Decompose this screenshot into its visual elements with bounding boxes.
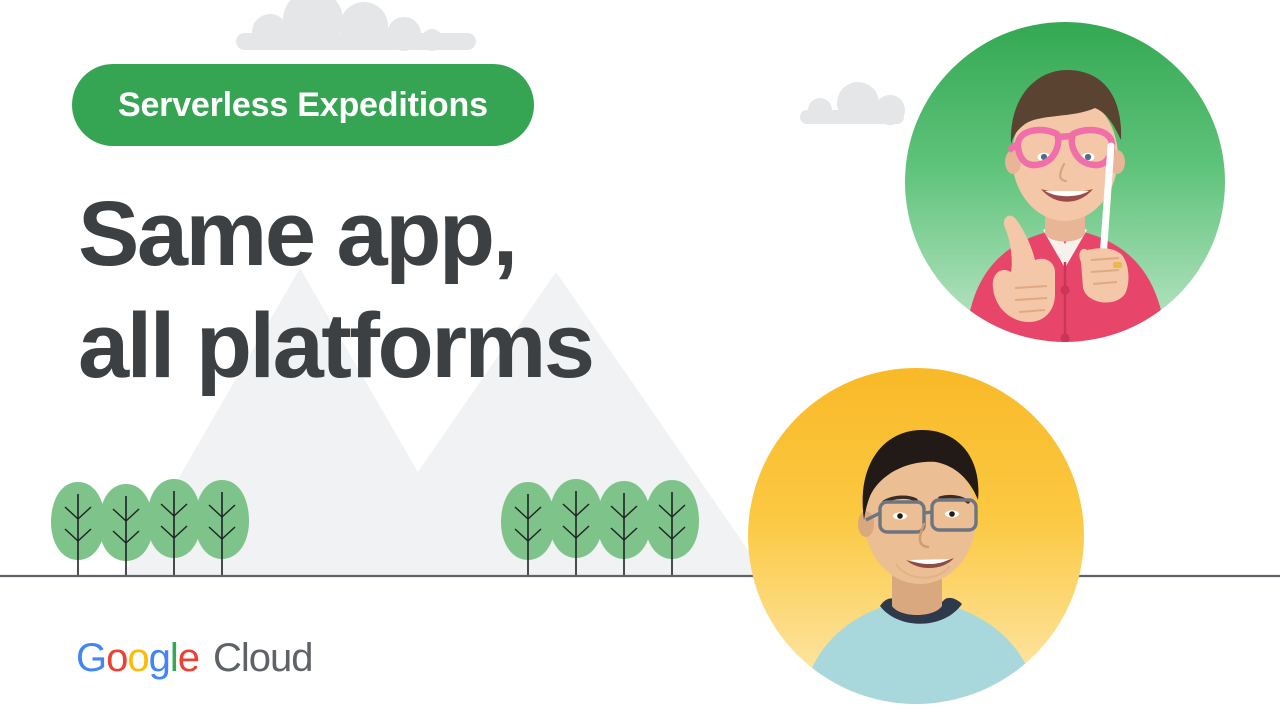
logo-letter-g2: g [149, 638, 170, 678]
google-cloud-logo: G o o g l e Cloud [76, 638, 313, 678]
hand-holding-stick [1079, 248, 1128, 302]
slide-canvas: Serverless Expeditions Same app, all pla… [0, 0, 1280, 720]
page-title: Same app, all platforms [78, 178, 778, 402]
logo-letter-l: l [170, 638, 178, 678]
logo-letter-e: e [178, 638, 199, 678]
tree [51, 482, 105, 575]
logo-letter-o2: o [127, 638, 148, 678]
page-title-line-1: Same app, [78, 178, 778, 290]
avatar-presenter-green [905, 22, 1225, 342]
cloud-small [800, 82, 905, 125]
wedding-ring [1113, 262, 1122, 268]
logo-letter-o1: o [106, 638, 127, 678]
google-wordmark: G o o g l e [76, 638, 199, 678]
cloud-large [236, 0, 476, 51]
series-badge-label: Serverless Expeditions [118, 88, 488, 122]
avatar-presenter-yellow [748, 368, 1084, 704]
logo-letter-g1: G [76, 638, 106, 678]
page-title-line-2: all platforms [78, 290, 778, 402]
cloud-wordmark: Cloud [213, 638, 313, 678]
series-badge[interactable]: Serverless Expeditions [72, 64, 534, 146]
